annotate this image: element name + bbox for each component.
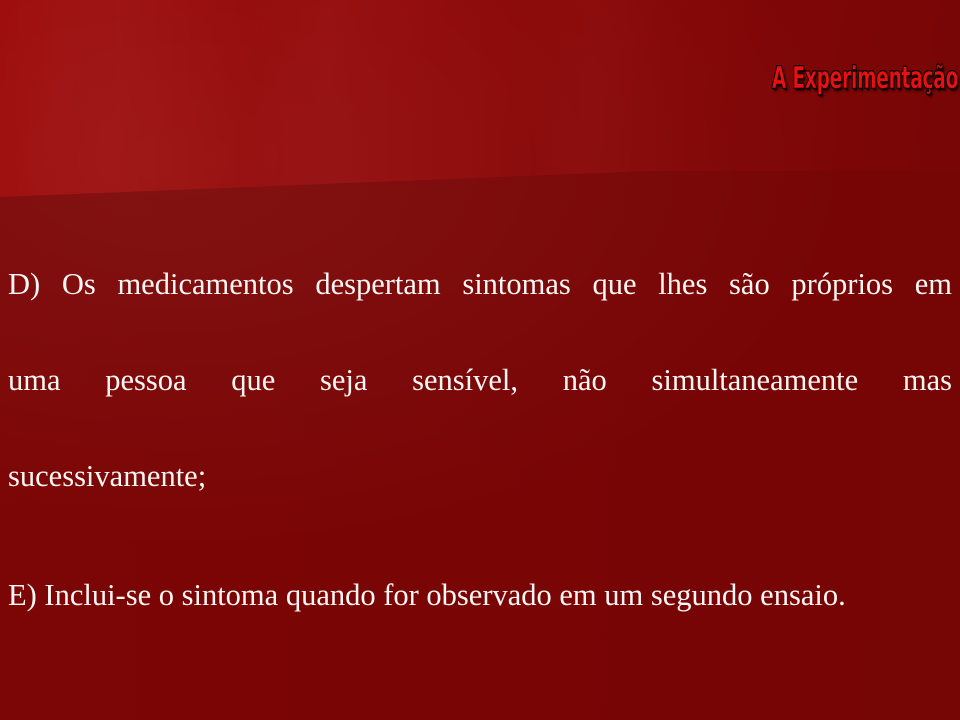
paragraph-item-d: D) Os medicamentos despertam sintomas qu… — [8, 236, 952, 524]
paragraph-line: uma pessoa que seja sensível, não simult… — [8, 332, 952, 428]
paragraph-line: E) Inclui-se o sintoma quando for observ… — [8, 547, 952, 643]
paragraph-line: D) Os medicamentos despertam sintomas qu… — [8, 236, 952, 332]
paragraph-spacer — [8, 524, 952, 547]
slide-body: D) Os medicamentos despertam sintomas qu… — [8, 236, 952, 643]
slide-title: A Experimentação na Homeopatia — [772, 63, 958, 95]
paragraph-line: sucessivamente; — [8, 428, 952, 524]
paragraph-item-e: E) Inclui-se o sintoma quando for observ… — [8, 547, 952, 643]
presentation-slide: A Experimentação na Homeopatia D) Os med… — [0, 0, 960, 720]
